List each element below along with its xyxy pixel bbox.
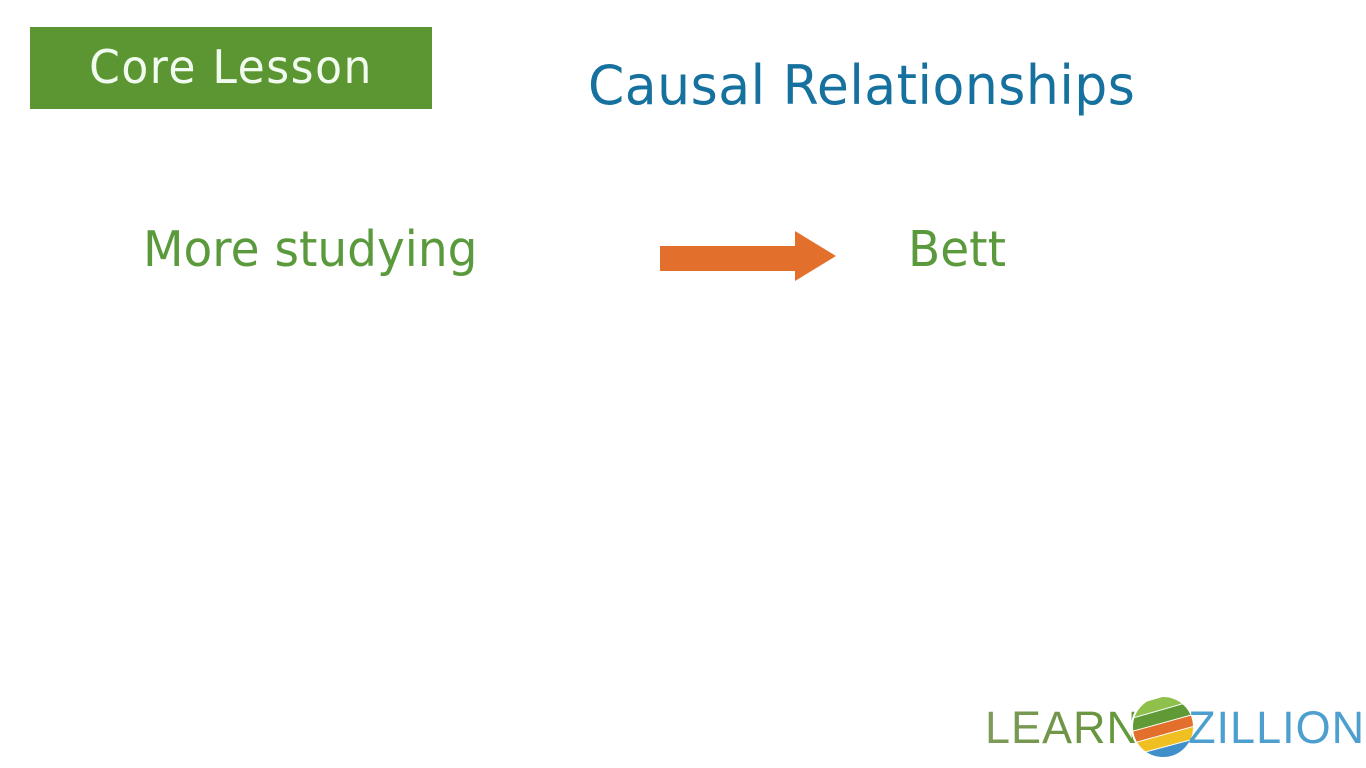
- core-lesson-badge-label: Core Lesson: [89, 45, 373, 92]
- lesson-slide: Core Lesson Causal Relationships More st…: [0, 0, 1366, 768]
- causal-relationship-row: More studying Bett: [0, 205, 1366, 305]
- logo-word-learn: LEARN: [985, 705, 1140, 750]
- learnzillion-globe-icon: [1130, 694, 1196, 760]
- learnzillion-logo: LEARN ZILLION: [985, 693, 1347, 761]
- logo-word-zillion: ZILLION: [1188, 705, 1365, 750]
- core-lesson-badge: Core Lesson: [30, 27, 432, 109]
- right-arrow-icon: [658, 227, 838, 285]
- cause-label: More studying: [143, 225, 478, 274]
- effect-label: Bett: [908, 225, 1006, 274]
- page-title: Causal Relationships: [588, 58, 1135, 115]
